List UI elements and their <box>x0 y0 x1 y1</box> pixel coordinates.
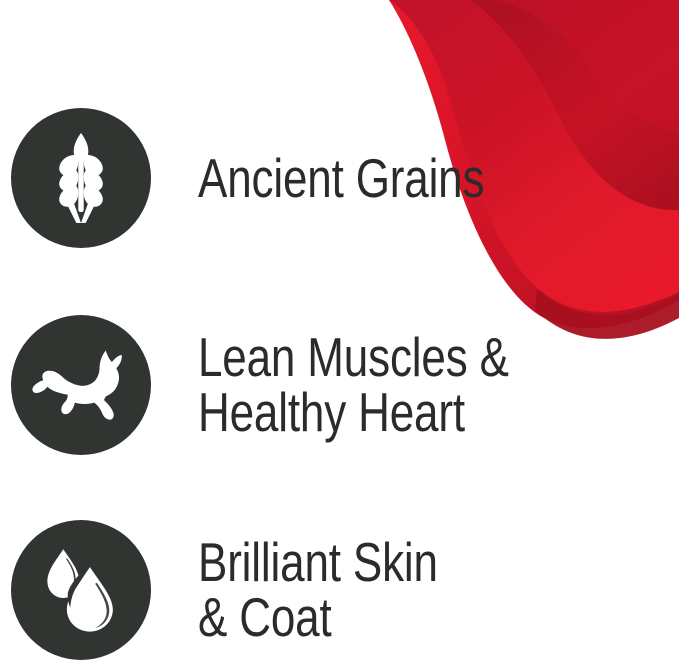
feature-row: Brilliant Skin & Coat <box>0 520 679 660</box>
water-droplets-icon-badge <box>11 520 151 660</box>
feature-label: Ancient Grains <box>198 151 583 206</box>
wheat-stalk-icon <box>42 133 120 223</box>
running-dog-icon <box>28 345 134 425</box>
wheat-stalk-icon-badge <box>11 108 151 248</box>
feature-label: Brilliant Skin & Coat <box>198 535 583 645</box>
feature-row: Ancient Grains <box>0 108 679 248</box>
feature-row: Lean Muscles & Healthy Heart <box>0 315 679 455</box>
feature-benefits-panel: Ancient Grains Lean Muscles & Healthy He… <box>0 0 679 663</box>
running-dog-icon-badge <box>11 315 151 455</box>
feature-label: Lean Muscles & Healthy Heart <box>198 330 583 440</box>
water-droplets-icon <box>35 544 127 636</box>
